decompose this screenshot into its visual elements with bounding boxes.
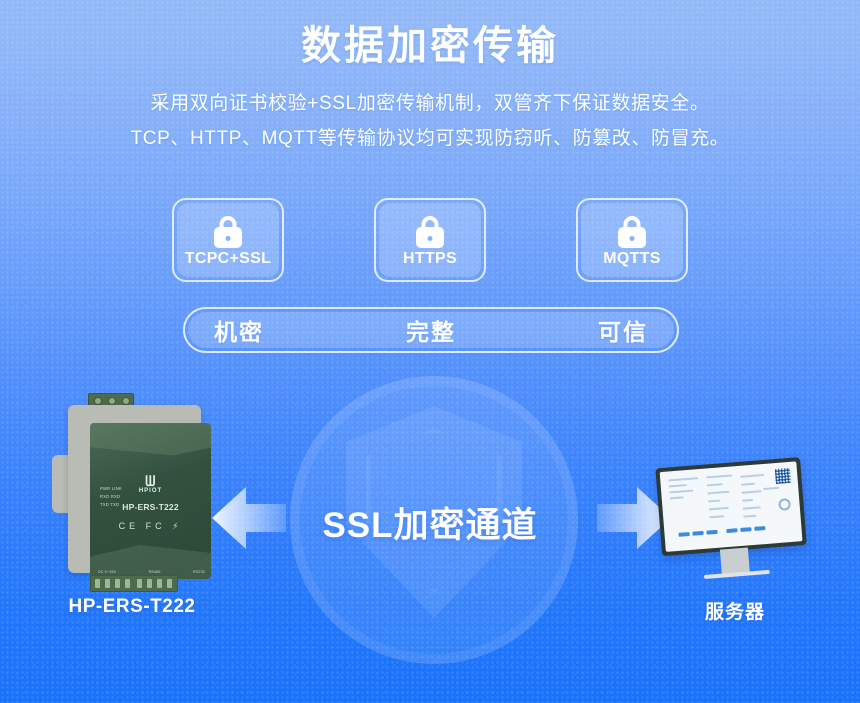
- device-port-label: RS485: [149, 570, 161, 574]
- device-pin: [95, 579, 100, 588]
- subtitle-line-2: TCP、HTTP、MQTT等传输协议均可实现防窃听、防篡改、防冒充。: [0, 121, 860, 156]
- device-port-labels: DC 9~36V RS485 RS232: [98, 570, 205, 574]
- device-port-label: RS232: [193, 570, 205, 574]
- device-pin: [137, 579, 142, 588]
- header-section: 数据加密传输 采用双向证书校验+SSL加密传输机制，双管齐下保证数据安全。 TC…: [0, 0, 860, 156]
- device-image: PWR LINK RXD RXD TXD TXD ᗯ HPIOT HP-ERS-…: [52, 393, 212, 593]
- badge-https[interactable]: HTTPS: [374, 198, 486, 282]
- badge-inner: MQTTS: [581, 203, 683, 277]
- device-pin: [105, 579, 110, 588]
- lock-icon: [213, 216, 243, 248]
- badge-tcpc-ssl[interactable]: TCPC+SSL: [172, 198, 284, 282]
- badge-label: TCPC+SSL: [185, 250, 271, 268]
- hpiot-logo-brand: HPIOT: [90, 488, 211, 494]
- lock-keyhole: [428, 236, 433, 241]
- page-title: 数据加密传输: [0, 22, 860, 70]
- channel-title: SSL加密通道: [0, 497, 860, 548]
- promo-banner: 数据加密传输 采用双向证书校验+SSL加密传输机制，双管齐下保证数据安全。 TC…: [0, 0, 860, 703]
- device-pin: [125, 579, 130, 588]
- property-confidential: 机密: [214, 313, 264, 347]
- property-trusted: 可信: [598, 313, 648, 347]
- badge-label: HTTPS: [403, 250, 457, 268]
- qr-code-icon: [775, 468, 791, 484]
- lock-keyhole: [226, 236, 231, 241]
- subtitle-block: 采用双向证书校验+SSL加密传输机制，双管齐下保证数据安全。 TCP、HTTP、…: [0, 86, 860, 156]
- device-screw: [108, 397, 116, 405]
- badge-mqtts[interactable]: MQTTS: [576, 198, 688, 282]
- badge-inner: TCPC+SSL: [177, 203, 279, 277]
- lock-icon: [415, 216, 445, 248]
- device-port-label: DC 9~36V: [98, 570, 116, 574]
- properties-bar: 机密 完整 可信: [183, 307, 679, 353]
- property-integrity: 完整: [406, 313, 456, 347]
- device-caption: HP-ERS-T222: [52, 596, 212, 618]
- hpiot-logo-mark: ᗯ: [90, 475, 211, 487]
- device-logo: ᗯ HPIOT: [90, 475, 211, 494]
- protocol-badge-list: TCPC+SSL HTTPS MQTTS: [0, 198, 860, 282]
- server-caption: 服务器: [660, 597, 810, 624]
- device-pin: [167, 579, 172, 588]
- device-pin: [115, 579, 120, 588]
- properties-inner: 机密 完整 可信: [188, 312, 674, 348]
- subtitle-line-1: 采用双向证书校验+SSL加密传输机制，双管齐下保证数据安全。: [0, 86, 860, 121]
- device-screw: [94, 397, 102, 405]
- lock-icon: [617, 216, 647, 248]
- badge-inner: HTTPS: [379, 203, 481, 277]
- device-pin: [157, 579, 162, 588]
- lock-keyhole: [630, 236, 635, 241]
- device-connector-bottom: [90, 575, 178, 592]
- device-screw: [122, 397, 130, 405]
- device-pin: [147, 579, 152, 588]
- badge-label: MQTTS: [603, 250, 661, 268]
